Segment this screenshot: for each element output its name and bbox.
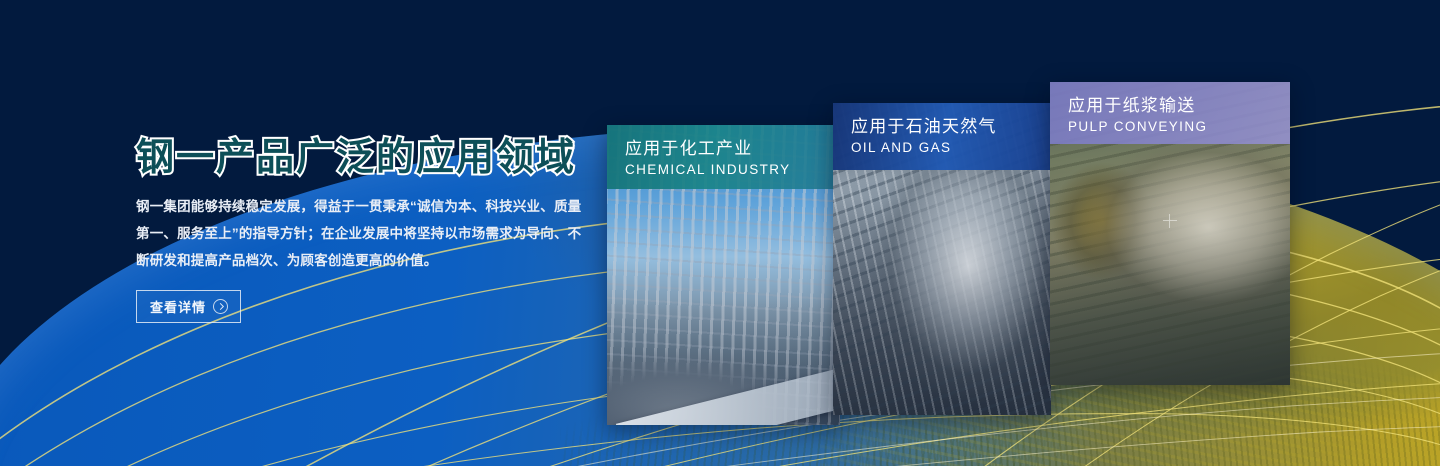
application-card-pulp[interactable]: 应用于纸浆输送 PULP CONVEYING [1050,82,1290,385]
hero-paragraph: 钢一集团能够持续稳定发展，得益于一贯秉承“诚信为本、科技兴业、质量第一、服务至上… [136,193,588,274]
card-title-cn: 应用于纸浆输送 [1068,95,1274,116]
hero-copy: 钢一产品广泛的应用领域 钢一集团能够持续稳定发展，得益于一贯秉承“诚信为本、科技… [136,138,606,323]
card-title-en: PULP CONVEYING [1068,118,1274,136]
view-details-label: 查看详情 [150,297,206,316]
application-card-chemical[interactable]: 应用于化工产业 CHEMICAL INDUSTRY [607,125,840,425]
card-title-en: OIL AND GAS [851,139,1035,157]
crosshair-icon [1163,214,1177,228]
application-card-oilgas-caption: 应用于石油天然气 OIL AND GAS [833,103,1051,170]
hero-banner: 钢一产品广泛的应用领域 钢一集团能够持续稳定发展，得益于一贯秉承“诚信为本、科技… [0,0,1440,466]
view-details-button[interactable]: 查看详情 [136,290,241,323]
card-title-cn: 应用于化工产业 [625,138,824,159]
page-title: 钢一产品广泛的应用领域 [136,138,606,179]
application-card-oilgas[interactable]: 应用于石油天然气 OIL AND GAS [833,103,1051,415]
application-card-pulp-caption: 应用于纸浆输送 PULP CONVEYING [1050,82,1290,144]
card-title-cn: 应用于石油天然气 [851,116,1035,137]
application-card-chemical-caption: 应用于化工产业 CHEMICAL INDUSTRY [607,125,840,189]
chevron-right-circle-icon [213,299,228,314]
card-title-en: CHEMICAL INDUSTRY [625,161,824,179]
